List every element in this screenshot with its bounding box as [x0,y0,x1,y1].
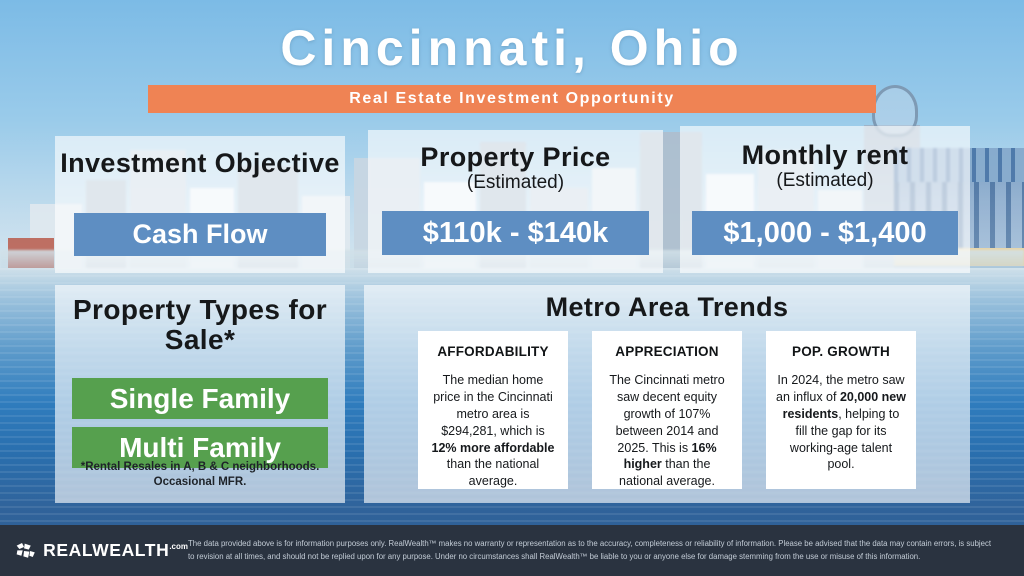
trend-card-heading: APPRECIATION [615,344,718,359]
trend-card-heading: AFFORDABILITY [437,344,548,359]
logo-wordmark: REALWEALTH.com [43,540,188,561]
trend-card: AFFORDABILITYThe median home price in th… [418,331,568,489]
trend-card: POP. GROWTHIn 2024, the metro saw an inf… [766,331,916,489]
property-types-footnote: *Rental Resales in A, B & C neighborhood… [67,460,333,491]
realwealth-logo[interactable]: REALWEALTH.com [16,538,188,564]
subtitle-banner: Real Estate Investment Opportunity [148,85,876,113]
trend-card-list: AFFORDABILITYThe median home price in th… [364,331,970,489]
metro-trends-title: Metro Area Trends [364,285,970,322]
panel-property-types: Property Types for Sale* Single Family M… [55,285,345,503]
property-types-title: Property Types for Sale* [55,285,345,355]
card-subtitle: (Estimated) [368,172,663,194]
page-title: Cincinnati, Ohio [0,22,1024,75]
trend-card-body: In 2024, the metro saw an influx of 20,0… [776,372,906,473]
card-investment-objective: Investment Objective Cash Flow [55,136,345,273]
trend-card-body: The Cincinnati metro saw decent equity g… [602,372,732,490]
property-price-value: $110k - $140k [382,211,649,255]
investment-objective-value: Cash Flow [74,213,326,256]
card-subtitle: (Estimated) [680,170,970,192]
panel-metro-area-trends: Metro Area Trends AFFORDABILITYThe media… [364,285,970,503]
card-monthly-rent: Monthly rent (Estimated) $1,000 - $1,400 [680,126,970,273]
monthly-rent-value: $1,000 - $1,400 [692,211,958,255]
footer-bar: REALWEALTH.com The data provided above i… [0,525,1024,576]
card-title: Investment Objective [55,136,345,178]
trend-card-body: The median home price in the Cincinnati … [428,372,558,490]
trend-card-heading: POP. GROWTH [792,344,890,359]
legal-disclaimer: The data provided above is for informati… [188,538,1024,563]
card-property-price: Property Price (Estimated) $110k - $140k [368,130,663,273]
subtitle-text: Real Estate Investment Opportunity [349,90,675,108]
trend-card: APPRECIATIONThe Cincinnati metro saw dec… [592,331,742,489]
card-title: Property Price [368,130,663,172]
realwealth-mark-icon [16,538,36,564]
card-title: Monthly rent [680,126,970,170]
property-type-single-family[interactable]: Single Family [72,378,328,419]
